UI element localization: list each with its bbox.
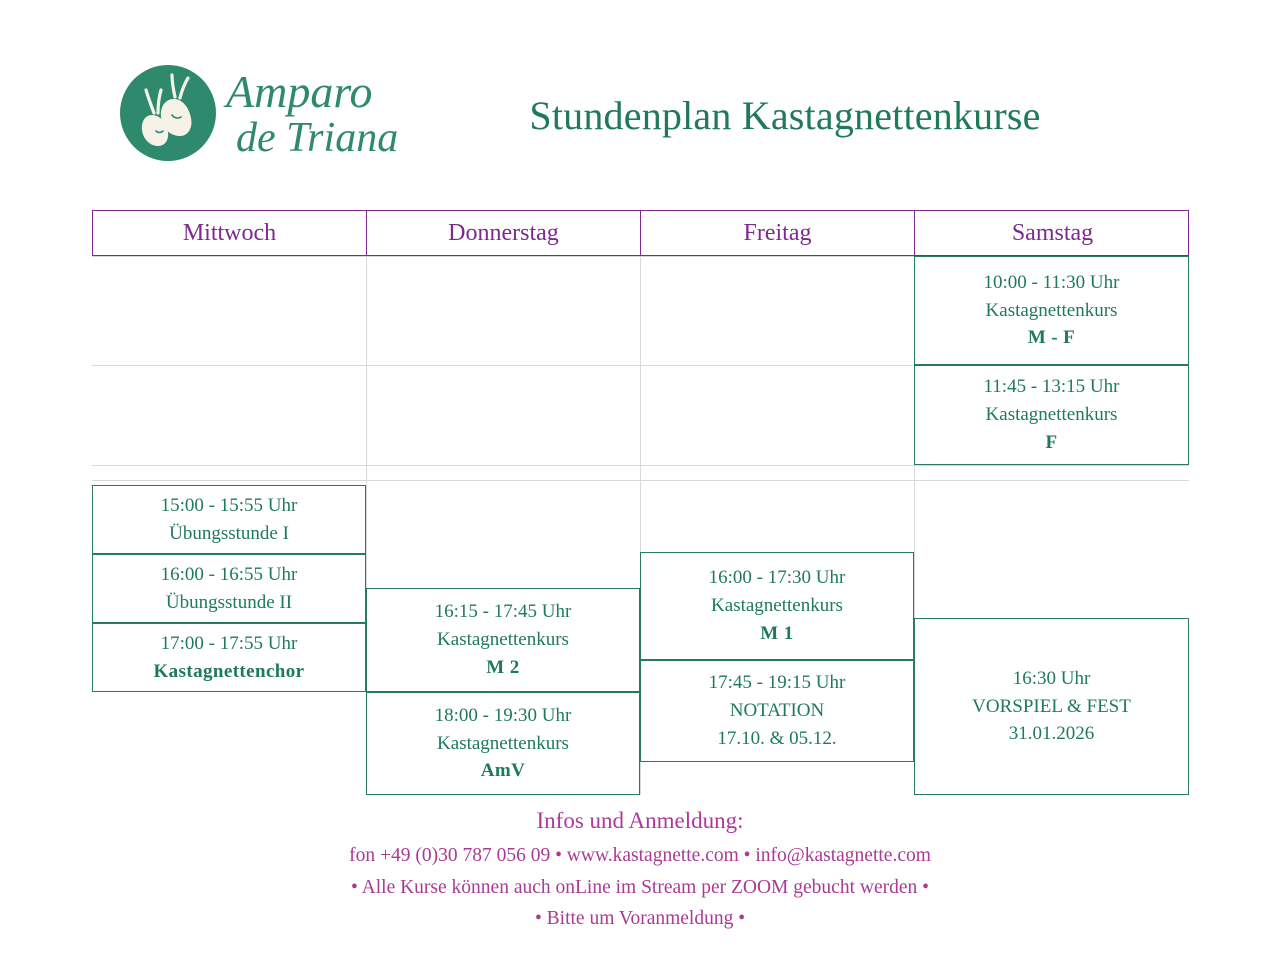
footer: Infos und Anmeldung: fon +49 (0)30 787 0… <box>0 808 1280 935</box>
event-time: 15:00 - 15:55 Uhr <box>161 492 298 520</box>
column-header-label: Mittwoch <box>183 220 276 247</box>
footer-note-online: • Alle Kurse können auch onLine im Strea… <box>0 872 1280 904</box>
event-time: 11:45 - 13:15 Uhr <box>984 373 1120 401</box>
event-course: Kastagnettenkurs <box>437 626 569 654</box>
column-header-label: Freitag <box>744 220 812 247</box>
page-title: Stundenplan Kastagnettenkurse <box>0 92 1280 139</box>
event-dates: 17.10. & 05.12. <box>717 725 836 753</box>
event-course: Übungsstunde II <box>166 589 292 617</box>
event-level: M 2 <box>486 654 519 682</box>
event-level: M - F <box>1028 324 1075 352</box>
event-course: Übungsstunde I <box>169 520 289 548</box>
event-time: 17:00 - 17:55 Uhr <box>161 630 298 658</box>
event-time: 18:00 - 19:30 Uhr <box>435 702 572 730</box>
column-header-donnerstag: Donnerstag <box>367 211 641 255</box>
event-course: VORSPIEL & FEST <box>972 693 1131 721</box>
footer-contact[interactable]: fon +49 (0)30 787 056 09 • www.kastagnet… <box>0 840 1280 872</box>
event-card[interactable]: 17:45 - 19:15 Uhr NOTATION 17.10. & 05.1… <box>640 660 914 762</box>
footer-title: Infos und Anmeldung: <box>0 808 1280 834</box>
schedule-table: Mittwoch Donnerstag Freitag Samstag 10:0… <box>92 210 1189 795</box>
event-time: 16:30 Uhr <box>1013 665 1091 693</box>
event-course: Kastagnettenkurs <box>437 730 569 758</box>
event-course: Kastagnettenkurs <box>986 401 1118 429</box>
schedule-header-row: Mittwoch Donnerstag Freitag Samstag <box>92 210 1189 256</box>
event-card[interactable]: 16:00 - 17:30 Uhr Kastagnettenkurs M 1 <box>640 552 914 660</box>
column-header-mittwoch: Mittwoch <box>93 211 367 255</box>
event-card[interactable]: 10:00 - 11:30 Uhr Kastagnettenkurs M - F <box>914 256 1189 365</box>
event-card[interactable]: 16:00 - 16:55 Uhr Übungsstunde II <box>92 554 366 623</box>
event-course: Kastagnettenkurs <box>986 297 1118 325</box>
event-course: Kastagnettenkurs <box>711 592 843 620</box>
event-level: F <box>1045 429 1057 457</box>
event-course: Kastagnettenchor <box>154 658 305 686</box>
event-card[interactable]: 18:00 - 19:30 Uhr Kastagnettenkurs AmV <box>366 692 640 795</box>
event-level: M 1 <box>760 620 793 648</box>
column-header-label: Samstag <box>1012 220 1093 247</box>
event-card[interactable]: 17:00 - 17:55 Uhr Kastagnettenchor <box>92 623 366 692</box>
event-time: 17:45 - 19:15 Uhr <box>709 669 846 697</box>
event-time: 16:15 - 17:45 Uhr <box>435 598 572 626</box>
column-header-label: Donnerstag <box>448 220 559 247</box>
event-course: NOTATION <box>730 697 825 725</box>
event-card[interactable]: 11:45 - 13:15 Uhr Kastagnettenkurs F <box>914 365 1189 465</box>
event-time: 16:00 - 16:55 Uhr <box>161 561 298 589</box>
event-card[interactable]: 16:30 Uhr VORSPIEL & FEST 31.01.2026 <box>914 618 1189 795</box>
column-header-samstag: Samstag <box>915 211 1190 255</box>
event-time: 16:00 - 17:30 Uhr <box>709 564 846 592</box>
event-time: 10:00 - 11:30 Uhr <box>984 269 1120 297</box>
event-card[interactable]: 16:15 - 17:45 Uhr Kastagnettenkurs M 2 <box>366 588 640 692</box>
event-level: AmV <box>481 757 525 785</box>
event-dates: 31.01.2026 <box>1009 720 1095 748</box>
page-header: Amparo de Triana Stundenplan Kastagnette… <box>0 0 1280 195</box>
column-header-freitag: Freitag <box>641 211 915 255</box>
footer-note-registration: • Bitte um Voranmeldung • <box>0 903 1280 935</box>
event-card[interactable]: 15:00 - 15:55 Uhr Übungsstunde I <box>92 485 366 554</box>
